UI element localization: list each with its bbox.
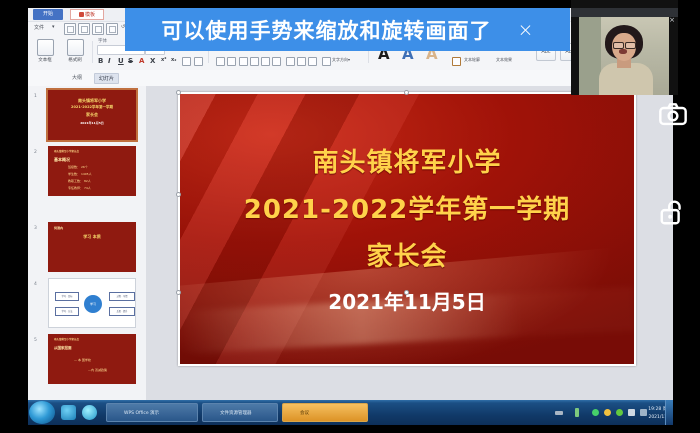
slide-thumbnail-pane[interactable]: 1 南头镇将军小学 2021-2022学年第一学期 家长会 2021年11月5日…: [28, 86, 147, 403]
text-direction-label[interactable]: 文字方向▾: [332, 57, 350, 63]
phone-icon[interactable]: [604, 409, 611, 416]
thumb5-heading: 从国家层面: [54, 346, 72, 351]
thumbnail-slide-2[interactable]: 南头镇将军小学家长会 基本概况 班级数： 26个 学生数： 1405人 教职工数…: [48, 146, 136, 196]
slide-background: 南头镇将军小学 2021-2022学年第一学期 家长会 2021年11月5日: [180, 94, 634, 364]
thumb1-line2: 2021-2022学年第一学期: [48, 105, 136, 110]
number-list-icon[interactable]: [227, 57, 236, 66]
taskbar-item-explorer[interactable]: 文件资源管理器: [202, 403, 278, 422]
thumb-number-5: 5: [34, 338, 37, 343]
thumb3-heading: 何谓内: [54, 226, 63, 230]
thumbnail-slide-1[interactable]: 南头镇将军小学 2021-2022学年第一学期 家长会 2021年11月5日: [48, 90, 136, 140]
thumb2-heading: 基本概况: [54, 157, 70, 163]
slide-title-line2[interactable]: 2021-2022学年第一学期: [180, 189, 634, 226]
camera-icon[interactable]: [658, 100, 688, 130]
thumb4-center-node: 学习: [84, 295, 102, 313]
print-icon[interactable]: [92, 23, 104, 35]
menu-file[interactable]: 文件: [34, 24, 44, 31]
windows-taskbar: WPS Office 演示 文件资源管理器 会议 19:28 周五 2021/1…: [28, 400, 673, 425]
font-color-button[interactable]: A: [139, 57, 144, 65]
taskbar-item-meeting[interactable]: 会议: [282, 403, 368, 422]
thumb3-row-1: 学习 本质: [48, 234, 136, 240]
ribbon-tab-home[interactable]: 开始: [33, 9, 63, 20]
preview-icon[interactable]: [106, 23, 118, 35]
resize-handle-tl[interactable]: [176, 90, 181, 95]
save-icon[interactable]: [64, 23, 76, 35]
clear-format-button[interactable]: X: [150, 57, 155, 65]
resize-handle-bl[interactable]: [176, 290, 181, 295]
webcam-window[interactable]: ×: [571, 0, 678, 95]
webcam-close-icon[interactable]: ×: [669, 17, 675, 24]
gesture-tip-text: 可以使用手势来缩放和旋转画面了: [162, 15, 492, 45]
thumb1-title: 南头镇将军小学: [48, 98, 136, 104]
resize-handle-ml[interactable]: [176, 192, 181, 197]
align-center-icon[interactable]: [250, 57, 259, 66]
subscript-button[interactable]: x₂: [171, 57, 176, 63]
slide-title-line1[interactable]: 南头镇将军小学: [180, 142, 634, 179]
text-outline-label[interactable]: 文本轮廓: [464, 57, 480, 63]
thumb-number-3: 3: [34, 226, 37, 231]
font-group-label: 字体: [98, 38, 107, 44]
align-justify-icon[interactable]: [272, 57, 281, 66]
slide-title-line3[interactable]: 家长会: [180, 236, 634, 273]
ribbon-divider: [92, 41, 93, 63]
thumb1-line3: 家长会: [48, 112, 136, 118]
text-shadow-icon[interactable]: [194, 57, 203, 66]
increase-indent-icon[interactable]: [297, 57, 306, 66]
line-spacing-icon[interactable]: [308, 57, 317, 66]
person-face: [612, 33, 636, 61]
battery-icon[interactable]: [575, 408, 579, 417]
ribbon-tab-template[interactable]: 模板: [70, 9, 104, 20]
thumb2-row-4: 专任教师： 74人: [68, 186, 91, 190]
person-mouth: [619, 49, 627, 54]
resize-handle-tc[interactable]: [404, 90, 409, 95]
strikethrough-button[interactable]: S: [128, 57, 133, 65]
menu-file-caret[interactable]: ▾: [52, 24, 55, 30]
glasses-right-icon: [625, 42, 636, 49]
text-fill-icon[interactable]: [452, 57, 461, 66]
network-icon[interactable]: [640, 409, 647, 416]
underline-button[interactable]: U: [118, 57, 124, 65]
wps-logo-icon: [79, 12, 84, 17]
webcam-titlebar[interactable]: ×: [571, 8, 678, 17]
tab-slides[interactable]: 幻灯片: [94, 73, 119, 84]
format-painter-icon: [67, 39, 84, 56]
screen-recording-frame: 开始 模板 文件 ▾ ↺ ↻ 文本框: [0, 0, 700, 433]
slide-edit-canvas[interactable]: 南头镇将军小学 2021-2022学年第一学期 家长会 2021年11月5日: [146, 86, 673, 403]
taskbar-item-wps[interactable]: WPS Office 演示: [106, 403, 198, 422]
browser-icon[interactable]: [61, 405, 76, 420]
edge-icon[interactable]: [82, 405, 97, 420]
thumb2-row-1: 班级数： 26个: [68, 165, 88, 169]
qq-icon[interactable]: [592, 409, 599, 416]
open-icon[interactable]: [78, 23, 90, 35]
close-icon[interactable]: ×: [518, 19, 534, 41]
align-right-icon[interactable]: [261, 57, 270, 66]
textbox-button[interactable]: 文本框: [32, 39, 58, 63]
thumb5-row-1: — 本 国学校: [74, 358, 91, 362]
thumb2-eyebrow: 南头镇将军小学家长会: [54, 149, 79, 153]
superscript-button[interactable]: x²: [161, 57, 166, 63]
current-slide[interactable]: 南头镇将军小学 2021-2022学年第一学期 家长会 2021年11月5日: [178, 92, 636, 366]
thumbnail-slide-3[interactable]: 何谓内 学习 本质: [48, 222, 136, 272]
align-left-icon[interactable]: [239, 57, 248, 66]
glasses-left-icon: [613, 42, 624, 49]
thumbnail-slide-4[interactable]: 学习 学习 · 目标 学习 · 方法 过程 · 习惯 反思 · 提升: [48, 278, 136, 328]
textbox-icon: [37, 39, 54, 56]
gesture-tip-banner: 可以使用手势来缩放和旋转画面了 ×: [125, 8, 570, 51]
thumb-number-2: 2: [34, 150, 37, 155]
thumbnail-slide-5[interactable]: 南头镇将军小学家长会 从国家层面 — 本 国学校 —内 双减政策: [48, 334, 136, 384]
keyboard-icon[interactable]: [555, 411, 563, 415]
thumb4-node-1: 学习 · 目标: [55, 292, 79, 301]
start-button-icon[interactable]: [29, 401, 55, 424]
resize-handle-bc[interactable]: [404, 290, 409, 295]
unlock-icon[interactable]: [658, 197, 688, 227]
thumb1-line4: 2021年11月5日: [48, 121, 136, 125]
decrease-indent-icon[interactable]: [286, 57, 295, 66]
thumb4-node-4: 反思 · 提升: [109, 307, 135, 316]
thumb5-row-2: —内 双减政策: [88, 368, 107, 372]
wechat-icon[interactable]: [616, 409, 623, 416]
text-effect-label[interactable]: 文本效果: [496, 57, 512, 63]
thumb2-row-3: 教职工数： 82人: [68, 179, 91, 183]
thumb4-node-3: 过程 · 习惯: [109, 292, 135, 301]
format-painter-button[interactable]: 格式刷: [62, 39, 88, 63]
thumb-number-1: 1: [34, 94, 37, 99]
highlight-icon[interactable]: [182, 57, 191, 66]
webcam-video: [579, 17, 669, 95]
bold-button[interactable]: B: [98, 57, 103, 65]
italic-button[interactable]: I: [108, 57, 111, 65]
columns-icon[interactable]: [322, 57, 331, 66]
tab-outline[interactable]: 大纲: [68, 73, 86, 82]
thumb5-eyebrow: 南头镇将军小学家长会: [54, 337, 79, 341]
bullet-list-icon[interactable]: [216, 57, 225, 66]
thumb-number-4: 4: [34, 282, 37, 287]
thumb2-row-2: 学生数： 1405人: [68, 172, 92, 176]
volume-icon[interactable]: [628, 409, 635, 416]
show-desktop-button[interactable]: [665, 400, 673, 425]
webcam-background-wall: [579, 17, 601, 95]
thumb4-node-2: 学习 · 方法: [55, 307, 79, 316]
